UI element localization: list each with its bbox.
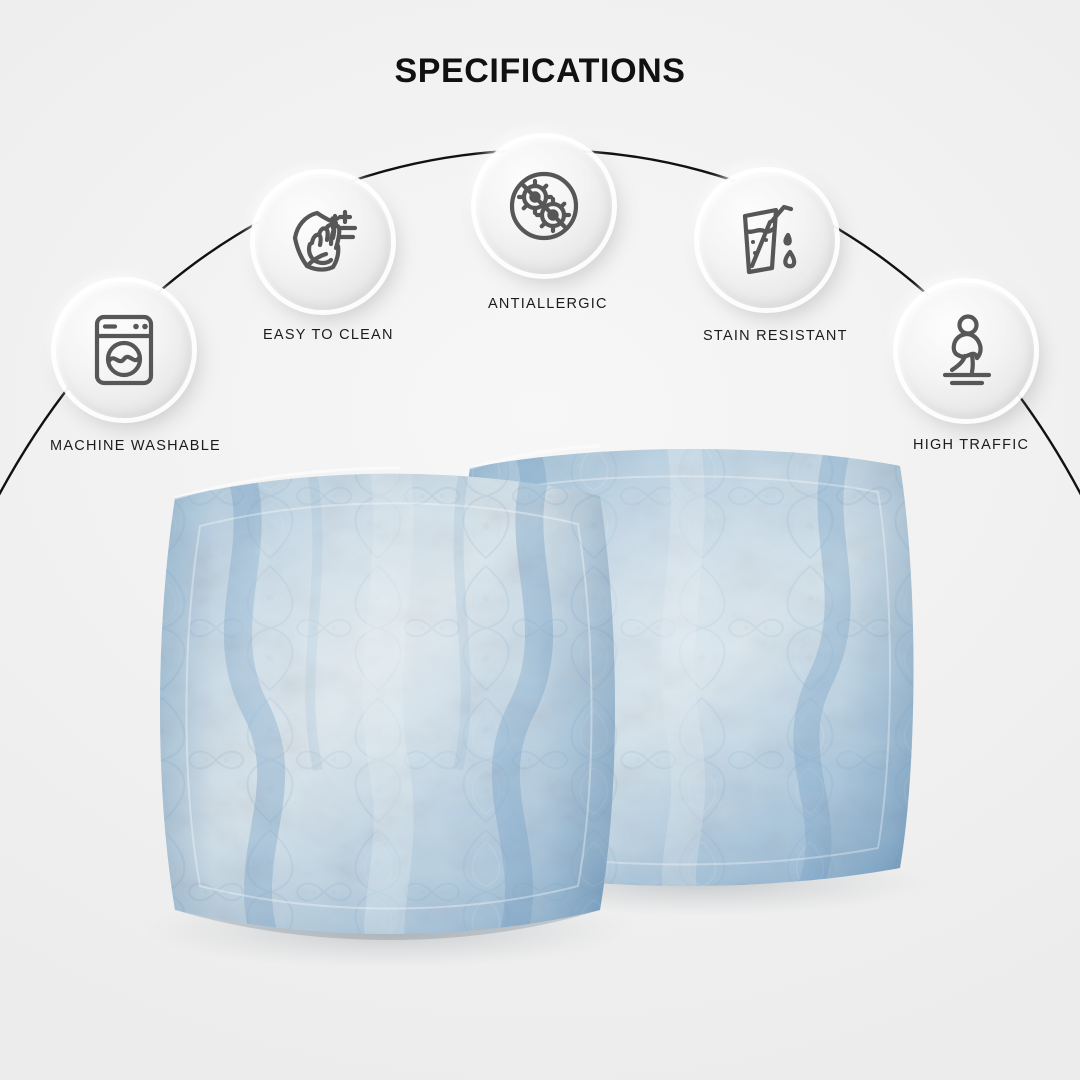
spec-label-antiallergic: ANTIALLERGIC — [488, 296, 608, 312]
spec-badge-stain-resistant[interactable] — [699, 172, 835, 308]
spec-label-easy-to-clean: EASY TO CLEAN — [263, 327, 394, 343]
hand-wiping-cloth-icon — [283, 204, 363, 280]
no-germs-icon — [504, 166, 584, 246]
spec-badge-high-traffic[interactable] — [898, 283, 1034, 419]
spec-badge-easy-to-clean[interactable] — [255, 174, 391, 310]
spec-badge-machine-washable[interactable] — [56, 282, 192, 418]
product-image-pillow-pair — [0, 430, 1080, 1050]
spec-badge-antiallergic[interactable] — [476, 138, 612, 274]
page-title: SPECIFICATIONS — [0, 52, 1080, 91]
glass-with-straw-droplet-icon — [728, 200, 806, 280]
specifications-infographic: SPECIFICATIONS MACHINE WASHABLE — [0, 0, 1080, 1080]
spec-label-stain-resistant: STAIN RESISTANT — [703, 328, 848, 344]
walking-person-icon — [927, 313, 1005, 389]
washing-machine-icon — [87, 311, 161, 389]
pillow-front — [145, 450, 635, 960]
